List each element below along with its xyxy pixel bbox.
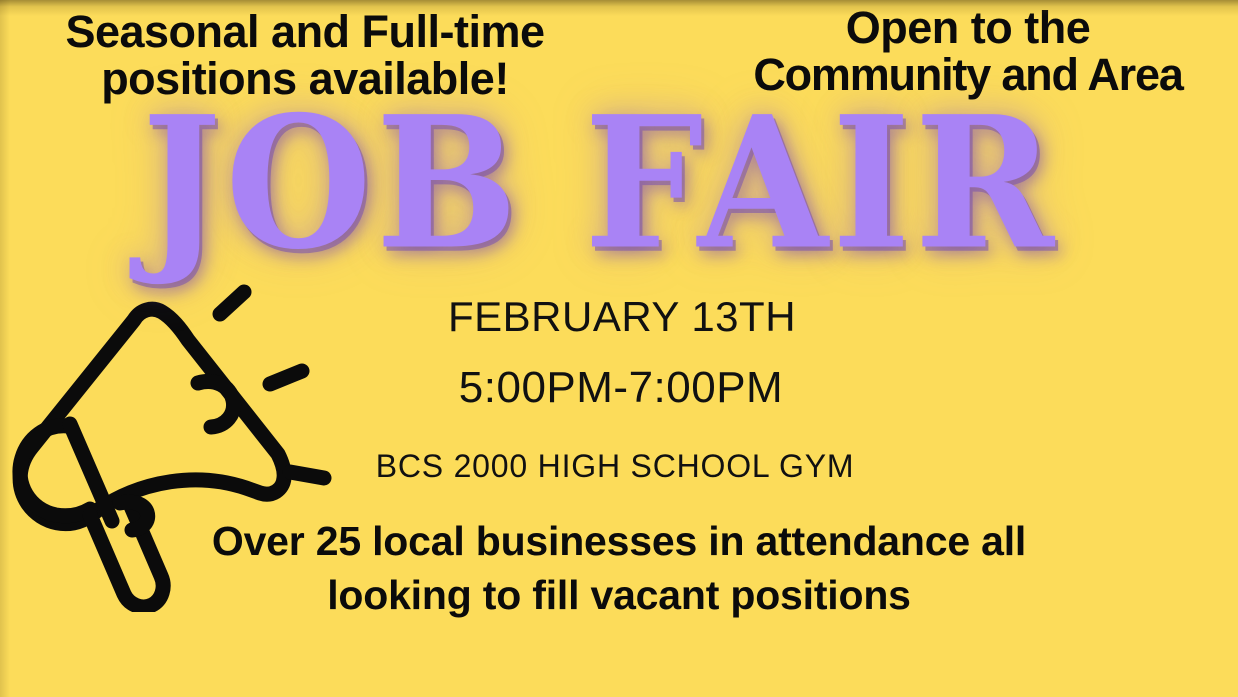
event-details: FEBRUARY 13TH 5:00PM-7:00PM BCS 2000 HIG… [0,296,1238,482]
heading-seasonal-positions: Seasonal and Full-time positions availab… [10,8,600,103]
page-title: JOB FAIR [142,92,1058,273]
event-time: 5:00PM-7:00PM [4,366,1238,410]
heading-seasonal-line1: Seasonal and Full-time [65,6,544,57]
event-date: FEBRUARY 13TH [6,296,1238,338]
event-location: BCS 2000 HIGH SCHOOL GYM [0,450,1238,482]
heading-open-line1: Open to the [846,2,1090,53]
heading-seasonal-line2: positions available! [10,55,600,102]
job-fair-poster: Seasonal and Full-time positions availab… [0,0,1238,697]
attendance-note: Over 25 local businesses in attendance a… [0,514,1238,622]
attendance-note-line1: Over 25 local businesses in attendance a… [212,518,1026,564]
poster-title-container: JOB FAIR [0,92,1200,260]
attendance-note-line2: looking to fill vacant positions [0,568,1238,622]
heading-open-line2: Community and Area [698,51,1238,98]
heading-open-to-community: Open to the Community and Area [698,4,1238,99]
